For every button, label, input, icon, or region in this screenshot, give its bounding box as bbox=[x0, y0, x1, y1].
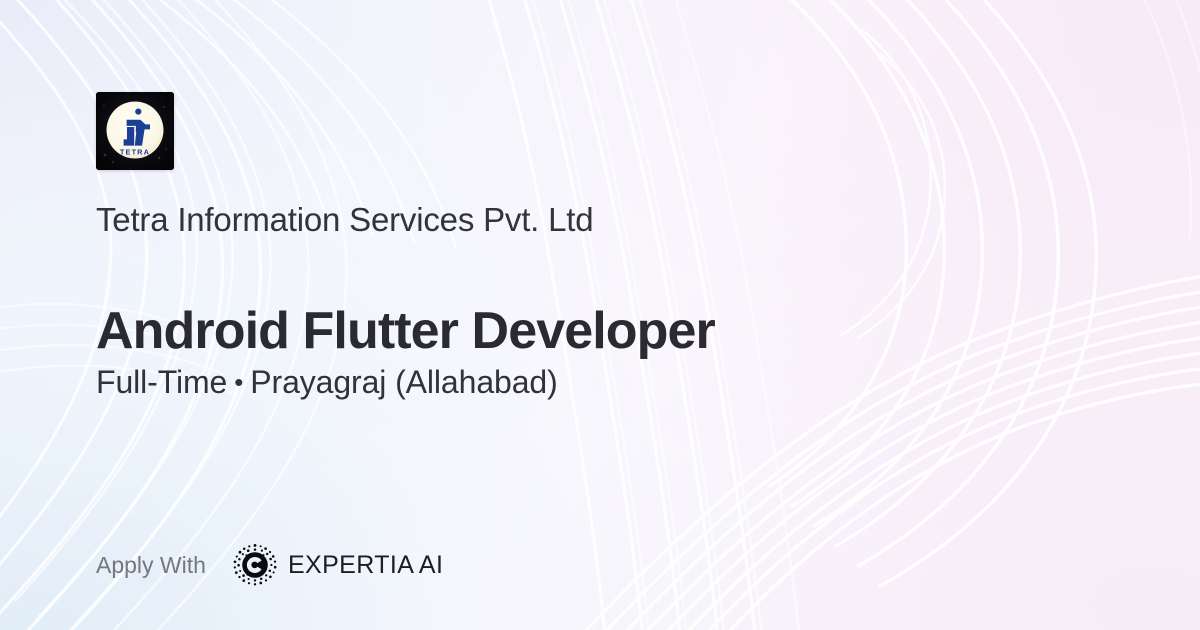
employment-type: Full-Time bbox=[96, 364, 227, 400]
job-title: Android Flutter Developer bbox=[96, 299, 715, 363]
meta-separator: • bbox=[227, 360, 250, 404]
apply-with-label: Apply With bbox=[96, 551, 206, 579]
job-location: Prayagraj (Allahabad) bbox=[250, 364, 557, 400]
job-meta: Full-Time•Prayagraj (Allahabad) bbox=[96, 360, 558, 404]
card-content: TETRA Tetra Information Services Pvt. Lt… bbox=[96, 0, 1106, 630]
company-logo: TETRA bbox=[96, 92, 174, 170]
svg-text:TETRA: TETRA bbox=[120, 148, 150, 157]
apply-footer: Apply With bbox=[96, 543, 443, 587]
job-share-card: TETRA Tetra Information Services Pvt. Lt… bbox=[0, 0, 1200, 630]
company-logo-artwork: TETRA bbox=[96, 92, 174, 170]
expertia-brand[interactable]: EXPERTIA AI bbox=[232, 542, 443, 588]
expertia-brand-name: EXPERTIA AI bbox=[288, 551, 443, 579]
company-name: Tetra Information Services Pvt. Ltd bbox=[96, 198, 593, 242]
expertia-logo-icon bbox=[232, 542, 278, 588]
